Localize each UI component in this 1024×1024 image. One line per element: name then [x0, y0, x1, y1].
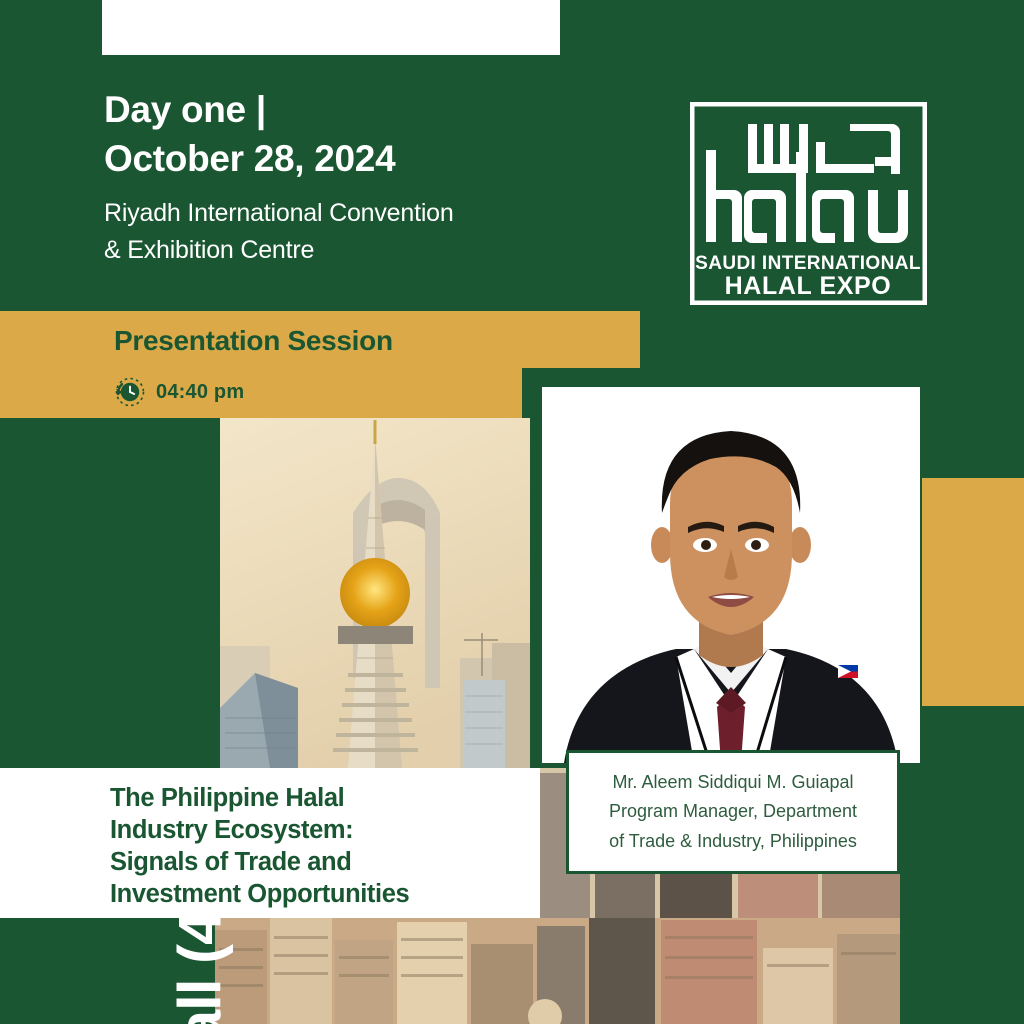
- saudi-halal-expo-logo: SAUDI INTERNATIONAL HALAL EXPO: [690, 102, 927, 305]
- talk-title-line-4: Investment Opportunities: [110, 878, 540, 910]
- speaker-portrait: [542, 387, 920, 763]
- speaker-role-line-2: of Trade & Industry, Philippines: [609, 827, 857, 856]
- speaker-name-card: Mr. Aleem Siddiqui M. Guiapal Program Ma…: [566, 750, 900, 874]
- gold-accent-block-right: [922, 478, 1024, 706]
- clock-icon: [112, 375, 146, 409]
- event-header: Day one | October 28, 2024 Riyadh Intern…: [104, 86, 664, 269]
- hall-label-wrapper: Hall (4): [87, 500, 317, 615]
- logo-subtitle-line1: SAUDI INTERNATIONAL: [695, 253, 921, 274]
- event-date: October 28, 2024: [104, 135, 664, 184]
- venue-line-1: Riyadh International Convention: [104, 196, 664, 232]
- talk-title-line-3: Signals of Trade and: [110, 846, 540, 878]
- gold-session-band-lower: [0, 368, 522, 418]
- event-poster: Day one | October 28, 2024 Riyadh Intern…: [0, 0, 1024, 1024]
- speaker-role-line-1: Program Manager, Department: [609, 797, 857, 826]
- speaker-name: Mr. Aleem Siddiqui M. Guiapal: [612, 768, 853, 797]
- logo-subtitle-line2: HALAL EXPO: [725, 272, 892, 300]
- day-label: Day one |: [104, 86, 664, 135]
- session-time: 04:40 pm: [156, 381, 244, 404]
- session-time-row: 04:40 pm: [112, 375, 244, 409]
- talk-title-line-1: The Philippine Halal: [110, 782, 540, 814]
- speaker-photo-card: [542, 387, 920, 763]
- talk-title: The Philippine Halal Industry Ecosystem:…: [110, 782, 540, 911]
- skyline-bottom-graphic: [215, 918, 900, 1024]
- session-type-label: Presentation Session: [114, 325, 393, 357]
- riyadh-skyline-photo-bottom: [215, 918, 900, 1024]
- top-white-banner-strip: [102, 0, 560, 55]
- talk-title-line-2: Industry Ecosystem:: [110, 814, 540, 846]
- logo-graphic: SAUDI INTERNATIONAL HALAL EXPO: [690, 102, 927, 305]
- venue-line-2: & Exhibition Centre: [104, 233, 664, 269]
